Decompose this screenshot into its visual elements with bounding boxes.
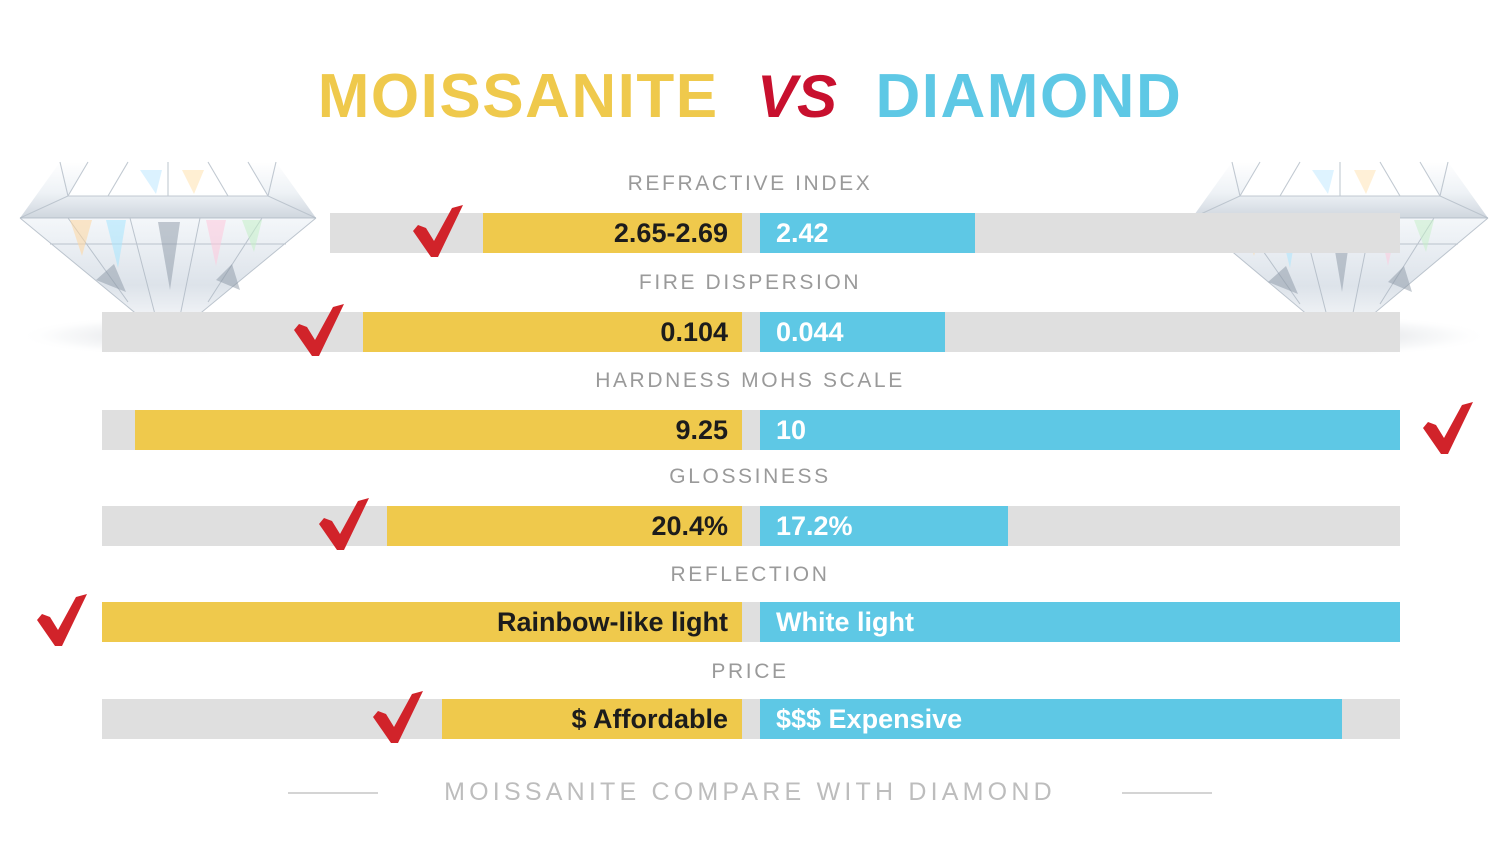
row-track (102, 506, 1400, 546)
moissanite-value: 9.25 (675, 410, 728, 450)
moissanite-bar[interactable]: 2.65-2.69 (483, 213, 742, 253)
check-icon-glyph (411, 204, 469, 260)
row-label: REFRACTIVE INDEX (0, 172, 1500, 196)
winner-check-icon (371, 690, 429, 746)
infographic-canvas: MOISSANITE VS DIAMOND (0, 0, 1500, 850)
check-icon-glyph (292, 303, 350, 359)
diamond-value: $$$ Expensive (776, 699, 962, 739)
diamond-value: 10 (776, 410, 806, 450)
check-icon-glyph (371, 690, 429, 746)
diamond-bar[interactable]: 10 (760, 410, 1400, 450)
diamond-bar[interactable]: 0.044 (760, 312, 945, 352)
moissanite-value: 0.104 (660, 312, 728, 352)
diamond-value: 2.42 (776, 213, 829, 253)
winner-check-icon (292, 303, 350, 359)
moissanite-value: Rainbow-like light (497, 602, 728, 642)
diamond-bar[interactable]: 2.42 (760, 213, 975, 253)
footer-rule-right (1122, 792, 1212, 794)
winner-check-icon (411, 204, 469, 260)
moissanite-bar[interactable]: 0.104 (363, 312, 742, 352)
moissanite-bar[interactable]: 20.4% (387, 506, 742, 546)
diamond-bar[interactable]: 17.2% (760, 506, 1008, 546)
footer-rule-left (288, 792, 378, 794)
check-icon-glyph (317, 497, 375, 553)
diamond-value: 17.2% (776, 506, 853, 546)
row-label: FIRE DISPERSION (0, 271, 1500, 295)
row-label: PRICE (0, 660, 1500, 684)
moissanite-value: $ Affordable (571, 699, 728, 739)
moissanite-value: 2.65-2.69 (614, 213, 728, 253)
moissanite-bar[interactable]: 9.25 (135, 410, 742, 450)
footer-caption: MOISSANITE COMPARE WITH DIAMOND (444, 778, 1056, 807)
row-label: GLOSSINESS (0, 465, 1500, 489)
footer: MOISSANITE COMPARE WITH DIAMOND (0, 778, 1500, 807)
winner-check-icon (317, 497, 375, 553)
check-icon-glyph (35, 593, 93, 649)
row-label: REFLECTION (0, 563, 1500, 587)
row-label: HARDNESS MOHS SCALE (0, 369, 1500, 393)
winner-check-icon (1421, 401, 1479, 457)
comparison-rows: REFRACTIVE INDEX2.65-2.692.42FIRE DISPER… (0, 0, 1500, 850)
diamond-value: White light (776, 602, 914, 642)
moissanite-bar[interactable]: $ Affordable (442, 699, 742, 739)
diamond-value: 0.044 (776, 312, 844, 352)
diamond-bar[interactable]: White light (760, 602, 1400, 642)
check-icon-glyph (1421, 401, 1479, 457)
diamond-bar[interactable]: $$$ Expensive (760, 699, 1342, 739)
moissanite-bar[interactable]: Rainbow-like light (102, 602, 742, 642)
moissanite-value: 20.4% (651, 506, 728, 546)
winner-check-icon (35, 593, 93, 649)
